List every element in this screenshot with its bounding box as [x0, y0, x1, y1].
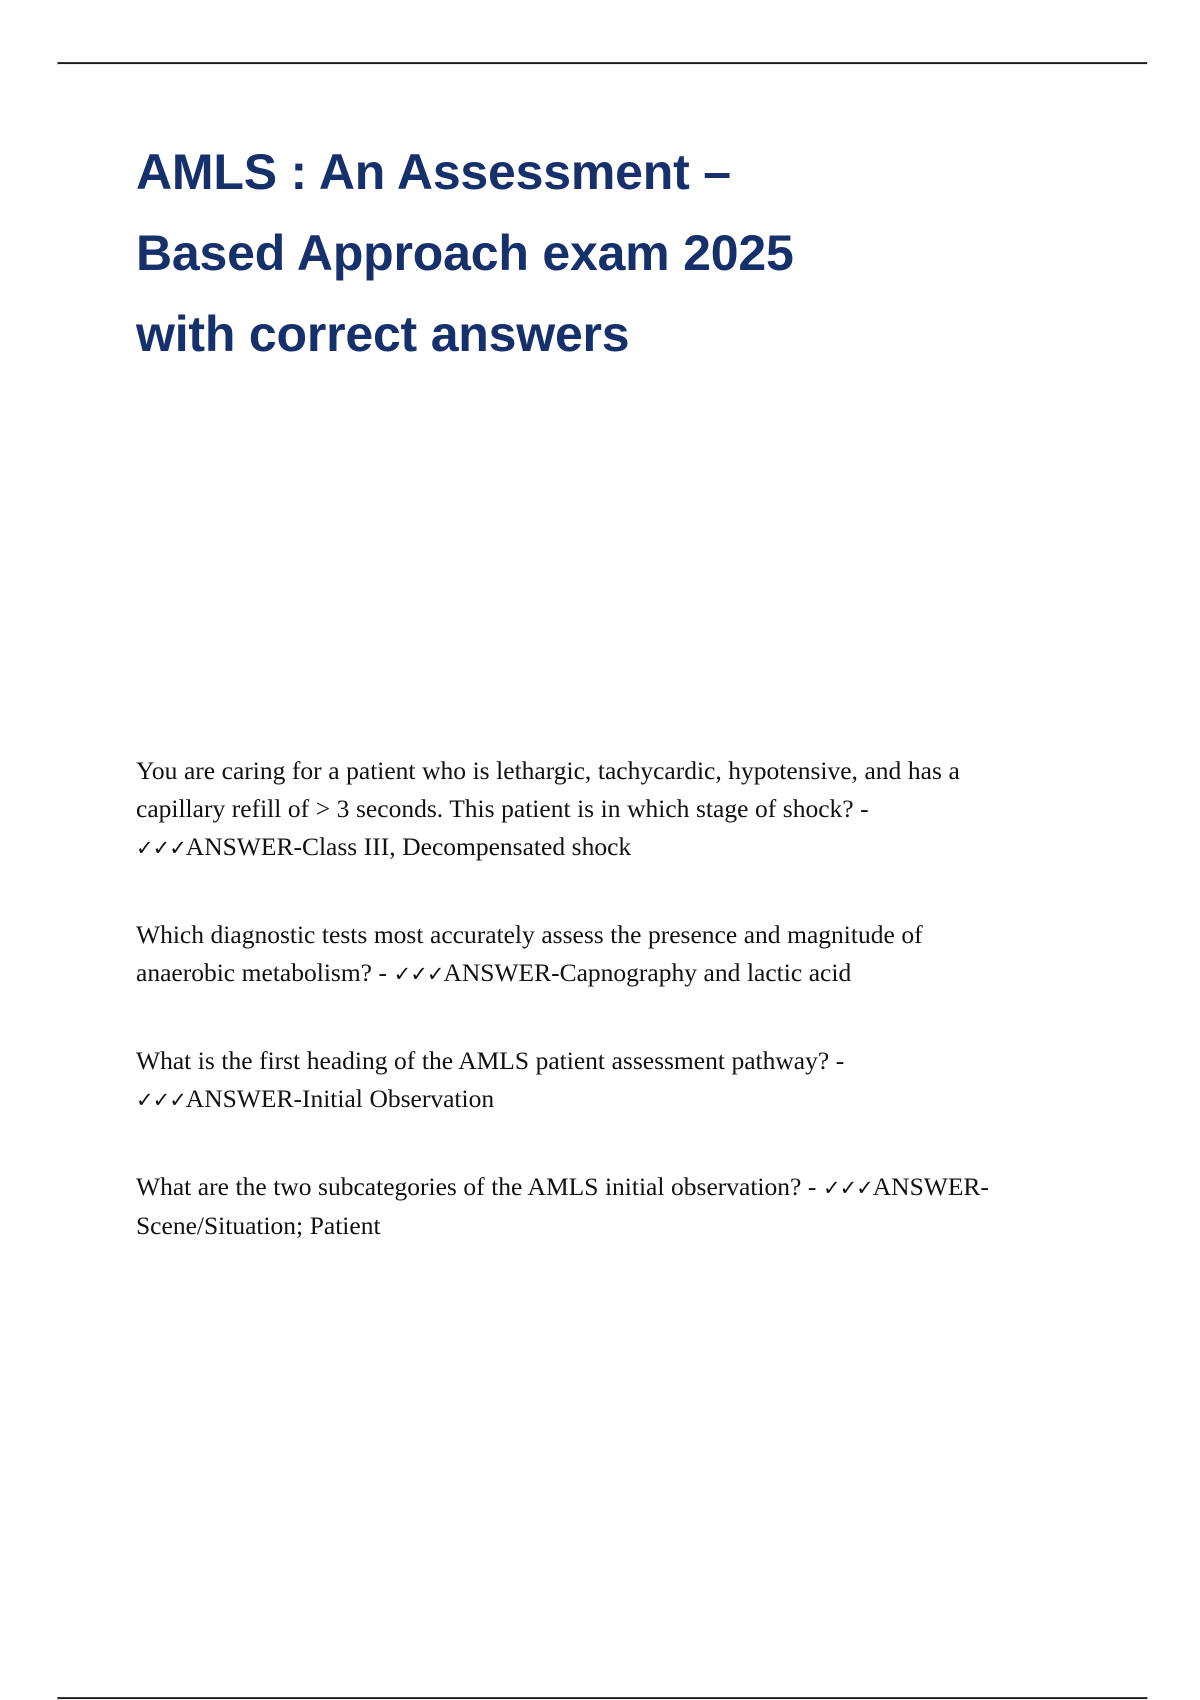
qa-item: Which diagnostic tests most accurately a… — [136, 916, 1016, 993]
qa-answer-label: ANSWER- — [443, 958, 559, 987]
check-marks-icon: ✓✓✓ — [136, 1088, 186, 1112]
check-marks-icon: ✓✓✓ — [136, 836, 186, 860]
qa-item: What is the first heading of the AMLS pa… — [136, 1042, 1016, 1119]
qa-answer: Scene/Situation; Patient — [136, 1211, 381, 1240]
qa-question: What are the two subcategories of the AM… — [136, 1172, 823, 1201]
qa-answer: Class III, Decompensated shock — [302, 832, 631, 861]
qa-answer: Initial Observation — [302, 1084, 494, 1113]
page-title-line-1: AMLS : An Assessment – — [136, 132, 1036, 213]
qa-item: You are caring for a patient who is leth… — [136, 752, 1016, 867]
qa-answer-label: ANSWER- — [873, 1172, 989, 1201]
document-page: AMLS : An Assessment – Based Approach ex… — [0, 0, 1200, 1700]
page-title: AMLS : An Assessment – Based Approach ex… — [136, 132, 1036, 375]
check-marks-icon: ✓✓✓ — [823, 1176, 873, 1200]
page-title-line-2: Based Approach exam 2025 — [136, 213, 1036, 294]
qa-answer: Capnography and lactic acid — [560, 958, 852, 987]
qa-item: What are the two subcategories of the AM… — [136, 1168, 1016, 1245]
check-marks-icon: ✓✓✓ — [394, 962, 444, 986]
qa-list: You are caring for a patient who is leth… — [136, 752, 1016, 1245]
qa-answer-label: ANSWER- — [186, 1084, 302, 1113]
qa-question: What is the first heading of the AMLS pa… — [136, 1046, 844, 1075]
qa-answer-label: ANSWER- — [186, 832, 302, 861]
page-top-divider — [57, 62, 1148, 65]
qa-question: You are caring for a patient who is leth… — [136, 756, 960, 823]
page-title-line-3: with correct answers — [136, 294, 1036, 375]
